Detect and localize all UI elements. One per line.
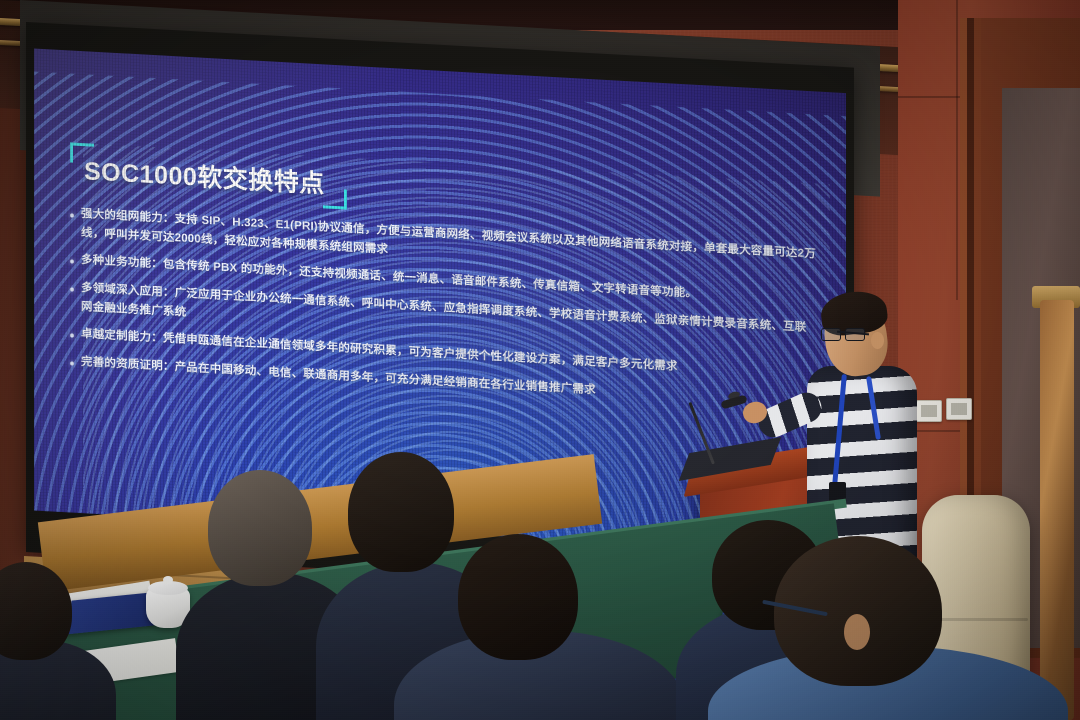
presenter-ear [871, 332, 884, 349]
wall-panel-seam [956, 0, 958, 300]
audience-head [0, 562, 72, 660]
conference-photo-scene: SOC1000软交换特点 强大的组网能力：支持 SIP、H.323、E1(PRI… [0, 0, 1080, 720]
audience-member [0, 562, 102, 720]
audience-head [458, 534, 578, 660]
teacup-knob [163, 576, 173, 584]
audience-ear [844, 614, 870, 650]
audience-member [196, 470, 336, 720]
audience-member [424, 534, 644, 720]
audience-member-foreground [748, 542, 1048, 720]
audience-head [208, 470, 312, 586]
